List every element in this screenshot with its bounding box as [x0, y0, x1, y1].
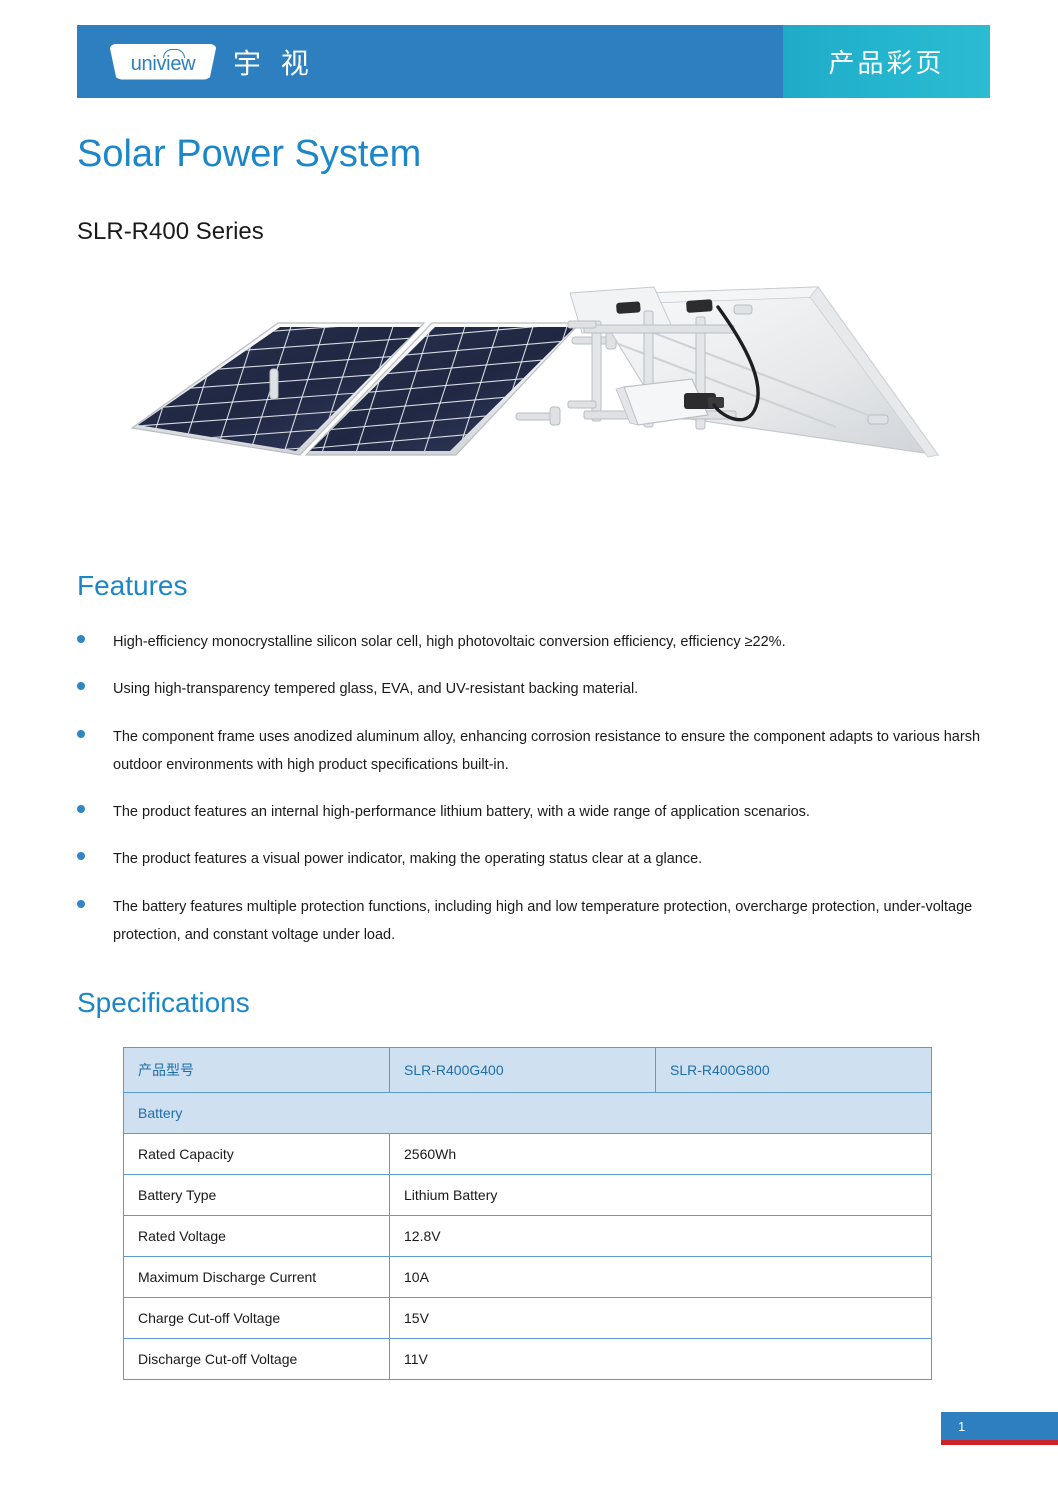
table-row: Discharge Cut-off Voltage 11V	[124, 1339, 932, 1380]
footer-bar: 1	[941, 1412, 1058, 1440]
bullet-icon	[77, 900, 85, 908]
row-value: 12.8V	[390, 1216, 932, 1257]
row-label: Battery Type	[124, 1175, 390, 1216]
features-heading: Features	[77, 570, 188, 602]
header-cell-model-1: SLR-R400G400	[390, 1048, 656, 1093]
brand-logo: uniview 宇 视	[109, 42, 315, 82]
bullet-icon	[77, 730, 85, 738]
feature-item: The product features an internal high-pe…	[77, 798, 987, 826]
row-value: Lithium Battery	[390, 1175, 932, 1216]
feature-item: The battery features multiple protection…	[77, 893, 987, 950]
row-value: 11V	[390, 1339, 932, 1380]
row-label: Charge Cut-off Voltage	[124, 1298, 390, 1339]
row-label: Rated Capacity	[124, 1134, 390, 1175]
feature-text: High-efficiency monocrystalline silicon …	[113, 628, 987, 656]
page-number: 1	[958, 1419, 965, 1434]
uniview-logo-icon: uniview	[109, 44, 217, 80]
features-list: High-efficiency monocrystalline silicon …	[77, 628, 987, 968]
table-row: Charge Cut-off Voltage 15V	[124, 1298, 932, 1339]
logo-arc-icon	[163, 49, 185, 58]
page-header: uniview 宇 视 产品彩页	[77, 25, 990, 98]
table-row: Maximum Discharge Current 10A	[124, 1257, 932, 1298]
feature-item: The component frame uses anodized alumin…	[77, 723, 987, 780]
footer-accent-rule	[941, 1440, 1058, 1445]
product-image-group	[120, 265, 940, 505]
bullet-icon	[77, 635, 85, 643]
bullet-icon	[77, 682, 85, 690]
header-cell-model-2: SLR-R400G800	[656, 1048, 932, 1093]
row-label: Maximum Discharge Current	[124, 1257, 390, 1298]
feature-text: The product features a visual power indi…	[113, 845, 987, 873]
specifications-heading: Specifications	[77, 987, 250, 1019]
row-value: 2560Wh	[390, 1134, 932, 1175]
feature-item: The product features a visual power indi…	[77, 845, 987, 873]
specifications-table: 产品型号 SLR-R400G400 SLR-R400G800 Battery R…	[123, 1047, 932, 1380]
row-value: 10A	[390, 1257, 932, 1298]
brochure-label: 产品彩页	[828, 43, 944, 80]
table-header-row: 产品型号 SLR-R400G400 SLR-R400G800	[124, 1048, 932, 1093]
header-brand-panel: uniview 宇 视	[77, 25, 783, 98]
page-subtitle-series: SLR-R400 Series	[77, 218, 264, 246]
row-label: Discharge Cut-off Voltage	[124, 1339, 390, 1380]
header-cell-label: 产品型号	[124, 1048, 390, 1093]
feature-item: High-efficiency monocrystalline silicon …	[77, 628, 987, 656]
solar-panel-mount-rear-illustration	[568, 287, 938, 457]
page-title: Solar Power System	[77, 133, 421, 176]
bullet-icon	[77, 805, 85, 813]
table-section-row: Battery	[124, 1093, 932, 1134]
table-row: Rated Voltage 12.8V	[124, 1216, 932, 1257]
bullet-icon	[77, 852, 85, 860]
header-brochure-panel: 产品彩页	[783, 25, 990, 98]
feature-text: The component frame uses anodized alumin…	[113, 723, 987, 780]
product-illustrations	[120, 265, 940, 505]
table-row: Rated Capacity 2560Wh	[124, 1134, 932, 1175]
row-value: 15V	[390, 1298, 932, 1339]
feature-text: Using high-transparency tempered glass, …	[113, 675, 987, 703]
table-row: Battery Type Lithium Battery	[124, 1175, 932, 1216]
solar-panel-front-illustration	[120, 305, 616, 468]
feature-text: The battery features multiple protection…	[113, 893, 987, 950]
feature-item: Using high-transparency tempered glass, …	[77, 675, 987, 703]
section-label-battery: Battery	[124, 1093, 932, 1134]
feature-text: The product features an internal high-pe…	[113, 798, 987, 826]
page-footer: 1	[941, 1412, 1058, 1445]
row-label: Rated Voltage	[124, 1216, 390, 1257]
brand-name-cn: 宇 视	[233, 42, 315, 82]
